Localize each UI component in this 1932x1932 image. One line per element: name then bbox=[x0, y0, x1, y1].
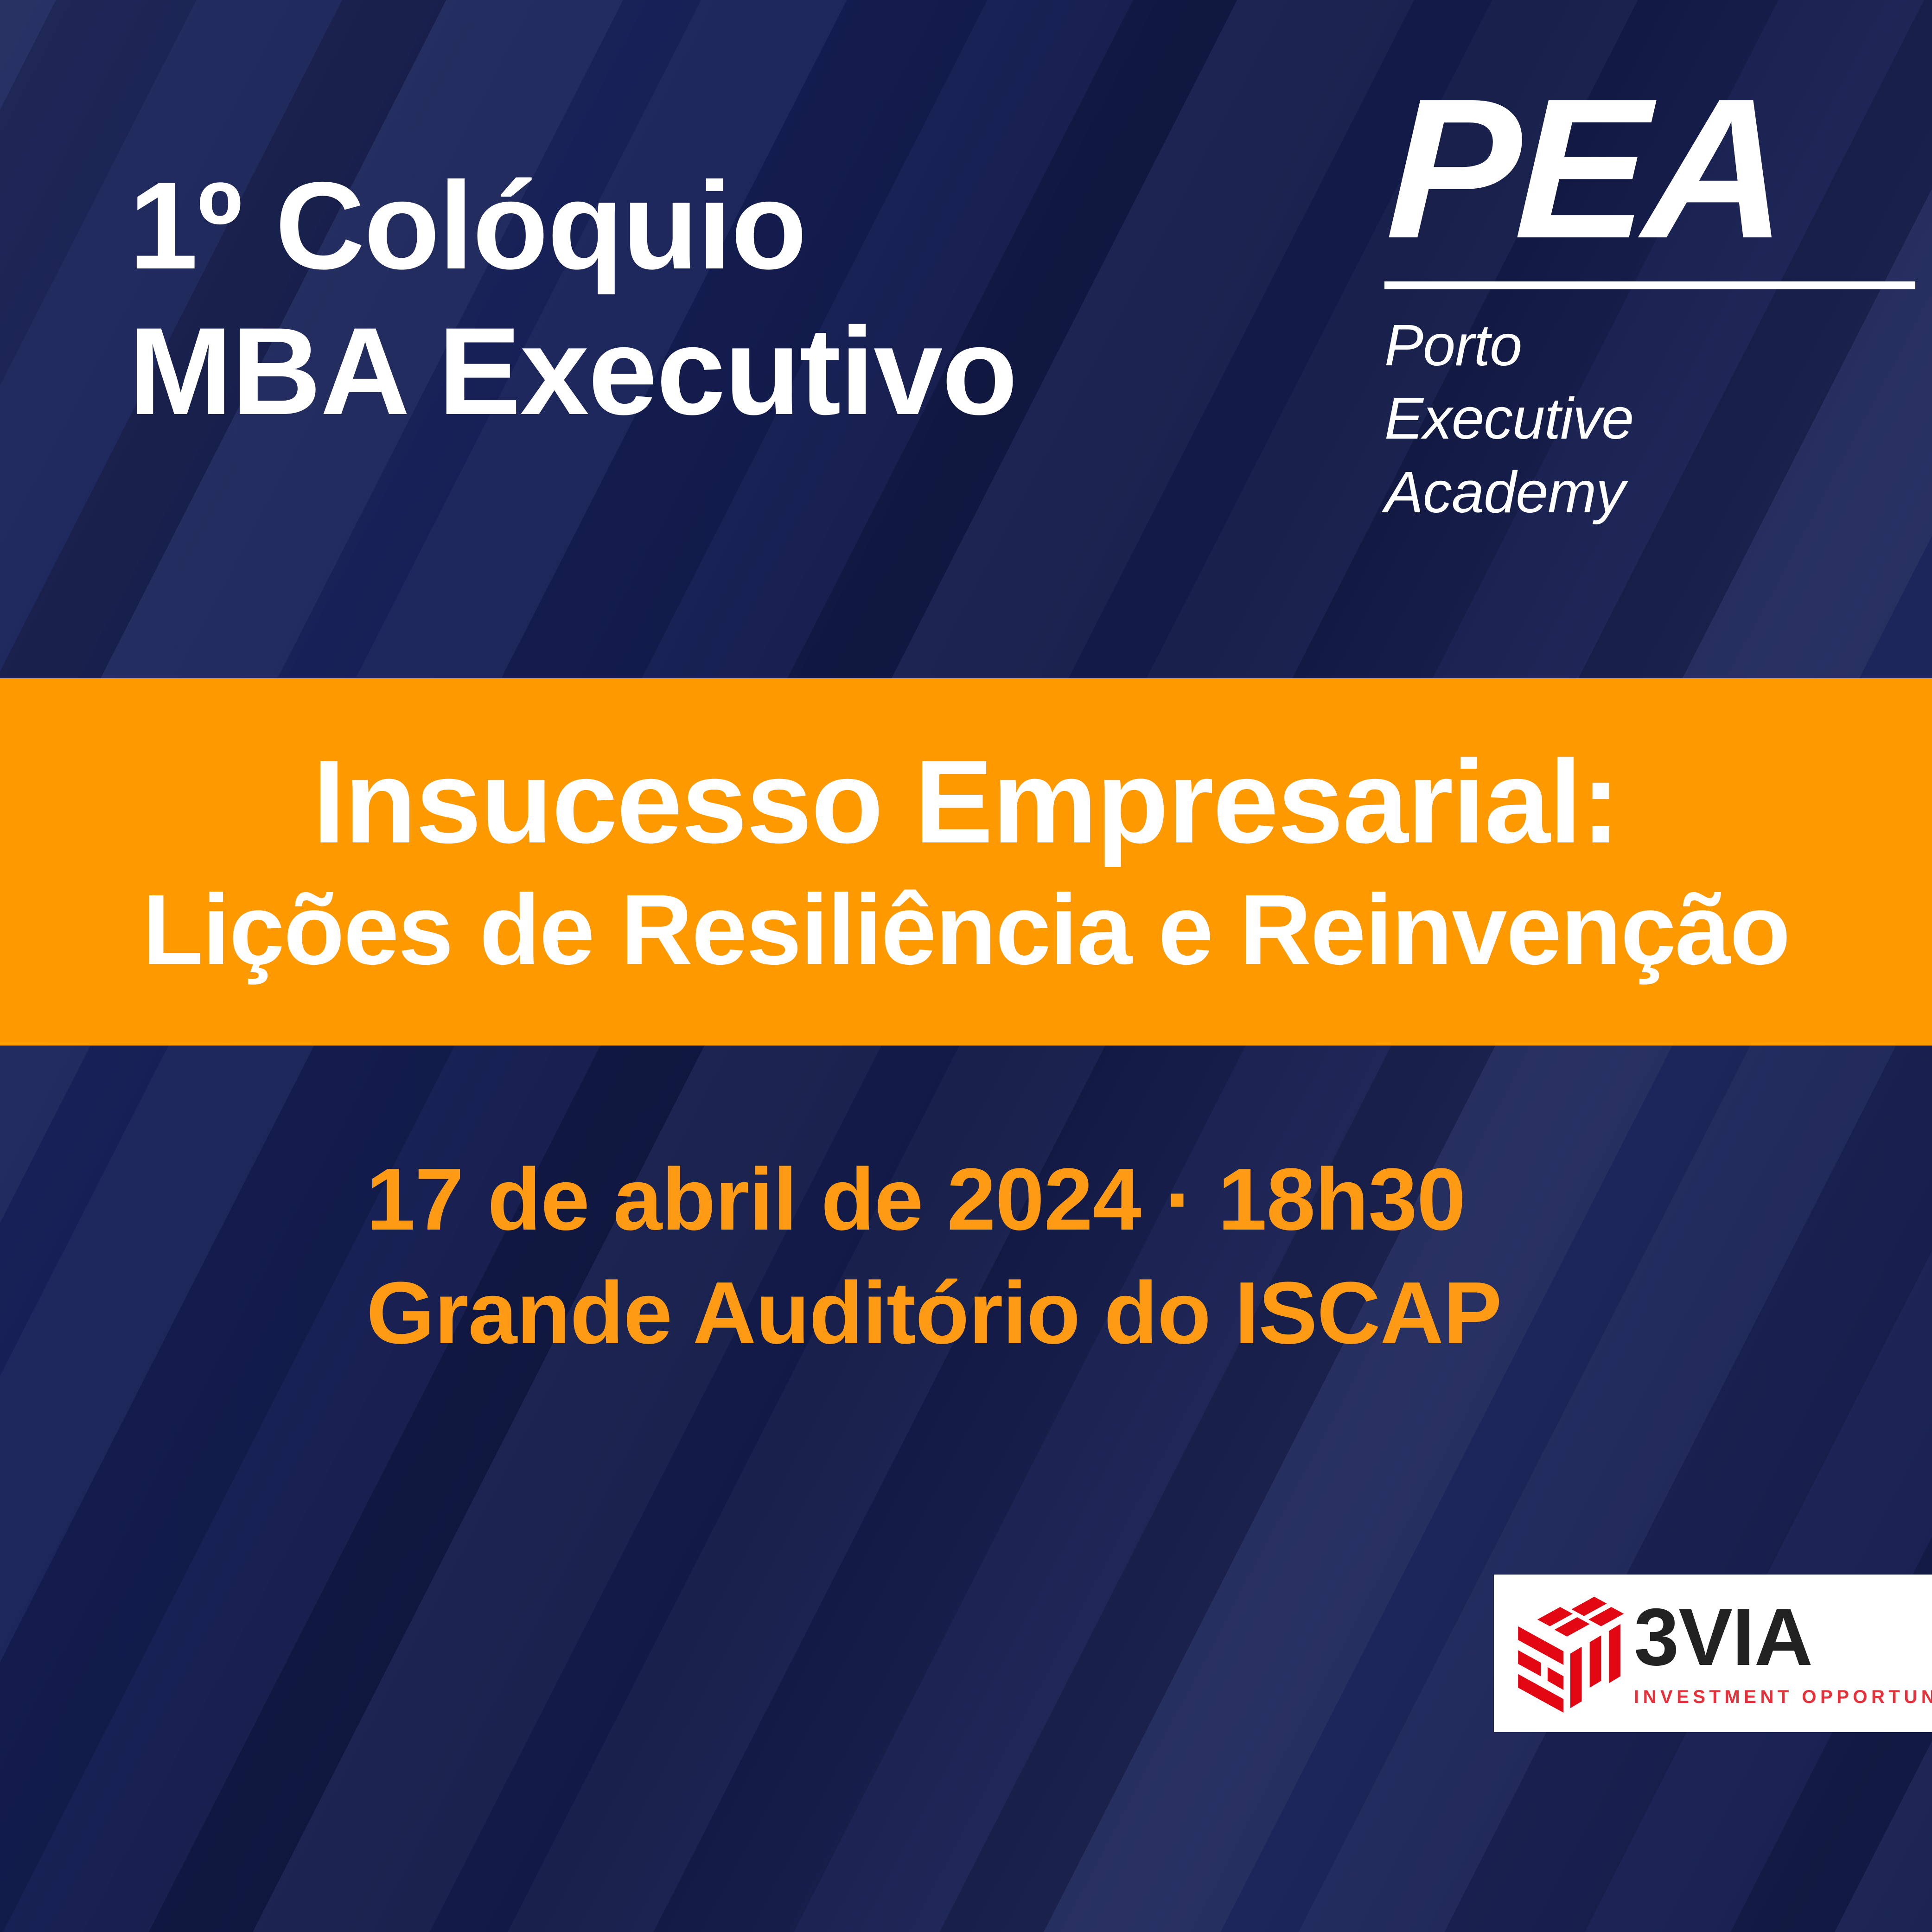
event-datetime: 17 de abril de 2024 · 18h30 bbox=[366, 1143, 1502, 1256]
event-headline: 1º Colóquio MBA Executivo bbox=[129, 153, 1288, 444]
event-details: 17 de abril de 2024 · 18h30 Grande Audit… bbox=[366, 1143, 1502, 1370]
theme-banner: Insucesso Empresarial: Lições de Resiliê… bbox=[0, 678, 1932, 1046]
isometric-cube-icon bbox=[1512, 1594, 1628, 1713]
event-venue: Grande Auditório do ISCAP bbox=[366, 1256, 1502, 1370]
event-poster: 1º Colóquio MBA Executivo PEA Porto Exec… bbox=[0, 0, 1932, 1932]
pea-wordmark: PEA bbox=[1384, 74, 1924, 264]
sponsor-tagline: INVESTMENT OPPORTUNITIES bbox=[1634, 1687, 1932, 1708]
sponsor-text-block: 3VIA INVESTMENT OPPORTUNITIES bbox=[1634, 1599, 1932, 1707]
theme-subtitle: Lições de Resiliência e Reinvenção bbox=[142, 874, 1790, 986]
sponsor-name: 3VIA bbox=[1634, 1599, 1932, 1676]
pea-logo: PEA Porto Executive Academy bbox=[1384, 74, 1918, 529]
headline-line-2: MBA Executivo bbox=[129, 299, 1288, 444]
headline-line-1: 1º Colóquio bbox=[129, 153, 1288, 299]
pea-subtitle-line-1: Porto bbox=[1384, 309, 1918, 383]
theme-title: Insucesso Empresarial: bbox=[312, 738, 1620, 866]
pea-subtitle-line-3: Academy bbox=[1384, 456, 1918, 529]
sponsor-logo-3via: 3VIA INVESTMENT OPPORTUNITIES bbox=[1494, 1575, 1932, 1732]
pea-subtitle-line-2: Executive bbox=[1384, 382, 1918, 456]
pea-divider-rule bbox=[1384, 281, 1915, 289]
pea-subtitle: Porto Executive Academy bbox=[1384, 309, 1918, 529]
